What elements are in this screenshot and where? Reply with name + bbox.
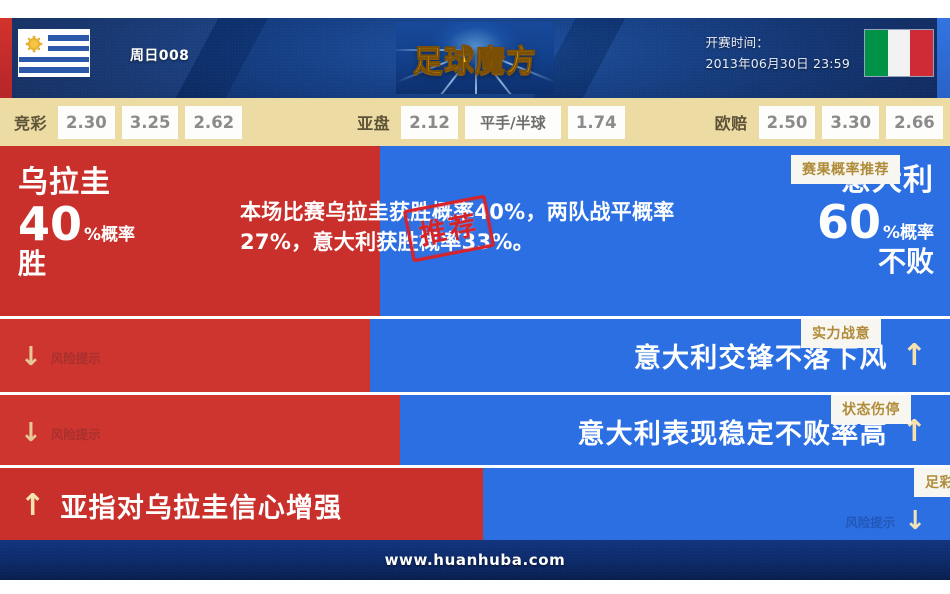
uruguay-flag-icon [18, 29, 90, 77]
form-row: ↓ 风险提示 状态伤停 意大利表现稳定不败率高 ↑ [0, 395, 950, 465]
content-body: 乌拉圭 40%概率 胜 赛果概率推荐 本场比赛乌拉圭获胜概率40%，两队战平概率… [0, 146, 950, 540]
odds-cell-oupei-draw[interactable]: 3.30 [822, 106, 879, 139]
strength-left-risk-hint: ↓ 风险提示 [20, 344, 101, 370]
strength-right-panel[interactable]: 实力战意 意大利交锋不落下风 ↑ [370, 319, 950, 392]
odds-group-oupei: 欧赔 2.50 3.30 2.66 [715, 106, 943, 139]
away-outcome-label: 不败 [817, 246, 934, 278]
betting-right-risk-hint: 风险提示 ↓ [845, 508, 926, 534]
betting-statement: ↑ 亚指对乌拉圭信心增强 [20, 486, 342, 525]
away-probability-panel[interactable]: 赛果概率推荐 本场比赛乌拉圭获胜概率40%，两队战平概率27%，意大利获胜概率3… [380, 146, 950, 316]
strength-left-risk-text: 风险提示 [51, 348, 101, 367]
betting-statement-text: 亚指对乌拉圭信心增强 [60, 486, 342, 525]
betting-left-panel[interactable]: ↑ 亚指对乌拉圭信心增强 [0, 468, 483, 540]
recommended-stamp-text: 推荐 [416, 203, 482, 253]
odds-cell-oupei-away[interactable]: 2.66 [886, 106, 943, 139]
site-logo[interactable]: 足球魔方 [396, 22, 554, 94]
arrow-down-icon: ↓ [904, 508, 926, 534]
home-probability-value: 40%概率 [18, 200, 135, 248]
strength-statement: 意大利交锋不落下风 ↑ [634, 336, 928, 375]
form-left-risk-text: 风险提示 [51, 424, 101, 443]
header-left-red-edge [0, 18, 12, 98]
kickoff-label: 开赛时间： [705, 33, 850, 54]
odds-group-yapan: 亚盘 2.12 平手/半球 1.74 [357, 106, 624, 139]
kickoff-time-block: 开赛时间： 2013年06月30日 23:59 [705, 33, 850, 74]
odds-cell-jingcai-draw[interactable]: 3.25 [122, 106, 179, 139]
italy-flag-icon [864, 29, 934, 77]
home-team-name: 乌拉圭 [18, 166, 135, 200]
odds-cell-yapan-away[interactable]: 1.74 [568, 106, 625, 139]
odds-cell-jingcai-home[interactable]: 2.30 [58, 106, 115, 139]
home-outcome-label: 胜 [18, 248, 135, 280]
odds-cell-yapan-home[interactable]: 2.12 [401, 106, 458, 139]
away-probability-number: 60 [817, 195, 881, 249]
strength-left-panel[interactable]: ↓ 风险提示 [0, 319, 370, 392]
home-team-block: 乌拉圭 40%概率 胜 [18, 166, 135, 280]
kickoff-value: 2013年06月30日 23:59 [705, 54, 850, 75]
footer-bar: www.huanhuba.com [0, 540, 950, 580]
odds-cell-oupei-home[interactable]: 2.50 [759, 106, 816, 139]
match-preview-page: 周日008 足球魔方 开赛时间： 2013年06月30日 23:59 竞彩 2.… [0, 0, 950, 594]
betting-right-risk-text: 风险提示 [845, 512, 895, 531]
badge-strength-intent: 实力战意 [801, 319, 881, 348]
odds-label-oupei: 欧赔 [715, 110, 748, 134]
form-right-panel[interactable]: 状态伤停 意大利表现稳定不败率高 ↑ [400, 395, 950, 465]
badge-betting-data: 足彩数据 [914, 468, 950, 497]
arrow-down-icon: ↓ [20, 420, 42, 446]
round-label: 周日008 [130, 45, 189, 65]
form-left-panel[interactable]: ↓ 风险提示 [0, 395, 400, 465]
home-probability-number: 40 [18, 197, 82, 251]
away-probability-unit: %概率 [883, 223, 934, 243]
site-logo-text: 足球魔方 [413, 36, 537, 80]
arrow-up-icon: ↑ [902, 338, 928, 373]
strength-row: ↓ 风险提示 实力战意 意大利交锋不落下风 ↑ [0, 319, 950, 392]
odds-bar: 竞彩 2.30 3.25 2.62 亚盘 2.12 平手/半球 1.74 欧赔 … [0, 98, 950, 146]
away-probability-value: 60%概率 [817, 198, 934, 246]
arrow-up-icon: ↑ [20, 488, 46, 523]
probability-row: 乌拉圭 40%概率 胜 赛果概率推荐 本场比赛乌拉圭获胜概率40%，两队战平概率… [0, 146, 950, 316]
odds-cell-jingcai-away[interactable]: 2.62 [185, 106, 242, 139]
badge-form-injury: 状态伤停 [831, 395, 911, 424]
badge-probability-recommendation: 赛果概率推荐 [791, 155, 900, 184]
odds-cell-yapan-handicap[interactable]: 平手/半球 [465, 106, 561, 139]
footer-url[interactable]: www.huanhuba.com [385, 551, 566, 569]
odds-label-yapan: 亚盘 [357, 110, 390, 134]
odds-label-jingcai: 竞彩 [14, 110, 47, 134]
arrow-down-icon: ↓ [20, 344, 42, 370]
odds-group-jingcai: 竞彩 2.30 3.25 2.62 [14, 106, 242, 139]
form-left-risk-hint: ↓ 风险提示 [20, 420, 101, 446]
betting-right-panel[interactable]: 足彩数据 风险提示 ↓ [483, 468, 950, 540]
home-probability-unit: %概率 [84, 225, 135, 245]
betting-data-row: ↑ 亚指对乌拉圭信心增强 足彩数据 风险提示 ↓ [0, 468, 950, 540]
header-right-blue-edge [937, 18, 950, 98]
sun-of-may-icon [28, 38, 40, 50]
